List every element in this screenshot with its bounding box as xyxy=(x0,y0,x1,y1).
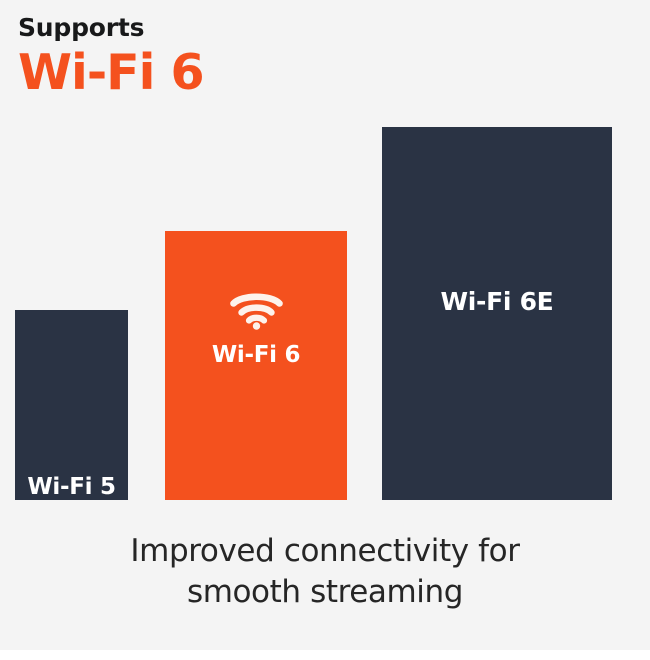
bar-wifi-6e: Wi-Fi 6E xyxy=(382,127,612,500)
caption-line-2: smooth streaming xyxy=(0,572,650,613)
bar-wifi-6-content: Wi-Fi 6 xyxy=(165,231,347,559)
bar-wifi-5-content: Wi-Fi 5 xyxy=(15,310,128,562)
bar-wifi-6e-label: Wi-Fi 6E xyxy=(441,287,554,316)
bar-wifi-5-label: Wi-Fi 5 xyxy=(27,474,115,500)
caption: Improved connectivity for smooth streami… xyxy=(0,531,650,613)
bar-wifi-6-label: Wi-Fi 6 xyxy=(212,342,300,368)
wifi-signal-icon xyxy=(229,290,284,330)
wifi-6-infographic: Supports Wi-Fi 6 Wi-Fi 5 xyxy=(0,0,650,650)
bar-wifi-5: Wi-Fi 5 xyxy=(15,310,128,500)
bar-wifi-6: Wi-Fi 6 xyxy=(165,231,347,500)
caption-line-1: Improved connectivity for xyxy=(0,531,650,572)
